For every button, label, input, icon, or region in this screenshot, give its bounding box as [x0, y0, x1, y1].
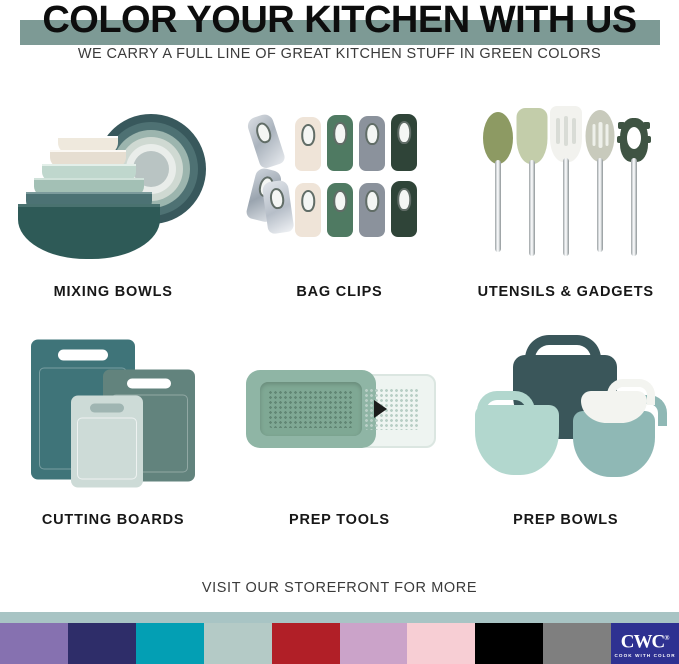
page-subtitle: WE CARRY A FULL LINE OF GREAT KITCHEN ST… — [0, 46, 679, 62]
clip-marble-3 — [262, 179, 295, 234]
clip-marble-1 — [246, 112, 287, 169]
swatch-pale-sage — [204, 623, 272, 664]
swatch-black — [475, 623, 543, 664]
clip-dark-bottom — [391, 181, 417, 237]
utensil-pasta-server — [617, 118, 651, 256]
category-card-prep-bowls[interactable]: PREP BOWLS — [453, 314, 679, 542]
category-card-mixing-bowls[interactable]: MIXING BOWLS — [0, 86, 226, 314]
utensil-slotted-turner — [549, 106, 583, 256]
category-label: UTENSILS & GADGETS — [453, 284, 679, 300]
bowl-dark-teal — [18, 204, 160, 259]
utensils-gadgets-image — [453, 86, 679, 276]
brand-logo-mark: CWC® — [621, 629, 670, 651]
swatch-navy — [68, 623, 136, 664]
bag-clips-image — [226, 86, 452, 276]
clip-gray-bottom — [359, 183, 385, 237]
colander-extension-mesh — [364, 388, 420, 430]
swatch-purple — [0, 623, 68, 664]
clip-cream-bottom — [295, 183, 321, 237]
brand-tagline: COOK WITH COLOR — [615, 653, 676, 658]
clip-green-bottom — [327, 183, 353, 237]
storefront-cta[interactable]: VISIT OUR STOREFRONT FOR MORE — [0, 580, 679, 596]
mixing-bowls-image — [0, 86, 226, 276]
swatch-gray — [543, 623, 611, 664]
category-label: PREP TOOLS — [226, 512, 452, 528]
page-header: COLOR YOUR KITCHEN WITH US WE CARRY A FU… — [0, 0, 679, 78]
brand-logo[interactable]: CWC® COOK WITH COLOR — [611, 623, 679, 664]
prep-tools-image — [226, 314, 452, 504]
clip-green-top — [327, 115, 353, 171]
prep-bowl-white-handle — [607, 379, 655, 405]
swatch-red — [272, 623, 340, 664]
prep-bowls-image — [453, 314, 679, 504]
colander-mesh — [268, 390, 354, 428]
brand-logo-text: CWC — [621, 631, 664, 652]
clip-dark-top — [391, 114, 417, 171]
category-card-bag-clips[interactable]: BAG CLIPS — [226, 86, 452, 314]
page-title: COLOR YOUR KITCHEN WITH US — [0, 0, 679, 42]
swatch-orchid — [340, 623, 408, 664]
category-grid: MIXING BOWLS — [0, 86, 679, 542]
swatch-teal — [136, 623, 204, 664]
category-card-prep-tools[interactable]: PREP TOOLS — [226, 314, 452, 542]
category-label: PREP BOWLS — [453, 512, 679, 528]
category-label: CUTTING BOARDS — [0, 512, 226, 528]
category-card-cutting-boards[interactable]: CUTTING BOARDS — [0, 314, 226, 542]
prep-bowl-mint — [475, 405, 559, 475]
category-label: BAG CLIPS — [226, 284, 452, 300]
category-card-utensils-gadgets[interactable]: UTENSILS & GADGETS — [453, 86, 679, 314]
board-small-mint — [71, 396, 143, 488]
cutting-boards-image — [0, 314, 226, 504]
clip-cream-top — [295, 117, 321, 171]
utensil-spoon — [481, 112, 515, 256]
swatch-top-strip — [0, 612, 679, 623]
swatch-light-pink — [407, 623, 475, 664]
category-label: MIXING BOWLS — [0, 284, 226, 300]
clip-gray-top — [359, 116, 385, 171]
utensil-spatula — [515, 108, 549, 256]
color-swatch-row: CWC® COOK WITH COLOR — [0, 623, 679, 664]
registered-icon: ® — [664, 634, 669, 642]
slide-arrow-icon — [374, 400, 387, 418]
utensil-slotted-spoon — [583, 110, 617, 256]
